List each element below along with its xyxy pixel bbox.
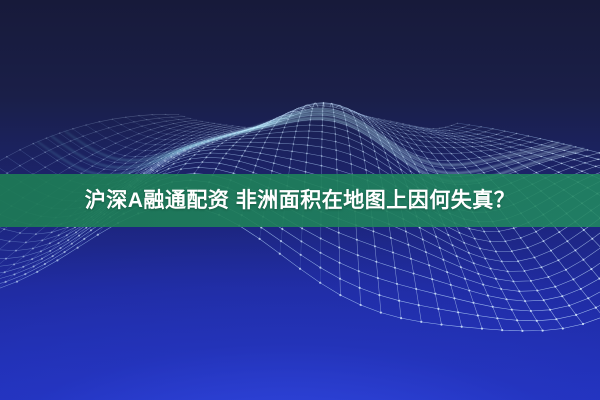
page-title: 沪深A融通配资 非洲面积在地图上因何失真？ <box>85 190 516 211</box>
title-band: 沪深A融通配资 非洲面积在地图上因何失真？ <box>0 174 600 227</box>
banner-image: 沪深A融通配资 非洲面积在地图上因何失真？ <box>0 0 600 400</box>
title-band-inner: 沪深A融通配资 非洲面积在地图上因何失真？ <box>0 174 600 227</box>
